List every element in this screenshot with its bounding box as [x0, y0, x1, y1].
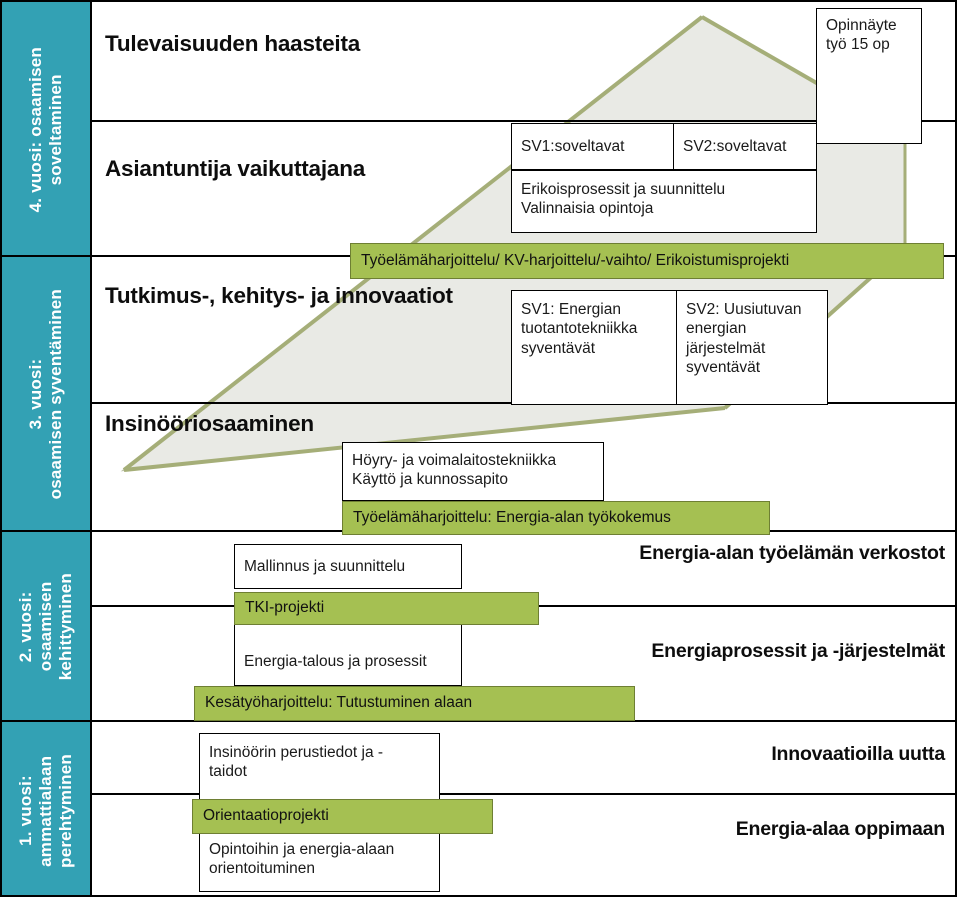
sidebar-item-year3[interactable]: 3. vuosi: osaamisen syventäminen — [2, 257, 90, 532]
green-bar-internship-year3[interactable]: Työelämäharjoittelu: Energia-alan työkok… — [342, 501, 770, 535]
course-box-text: SV1: Energian tuotantotekniikka syventäv… — [521, 300, 670, 358]
course-box-orientation-studies[interactable]: Opintoihin ja energia-alaan orientoitumi… — [199, 831, 440, 892]
course-box-text: SV1:soveltavat — [521, 137, 667, 156]
stage-heading-engineering: Insinööriosaaminen — [105, 411, 314, 437]
course-box-thesis[interactable]: Opinnäyte työ 15 op — [816, 8, 922, 144]
course-box-text: SV2: Uusiutuvan energian järjestelmät sy… — [686, 300, 821, 378]
course-box-text: Insinöörin perustiedot ja - taidot — [209, 743, 433, 782]
course-box-text: Erikoisprosessit ja suunnittelu Valinnai… — [521, 180, 810, 219]
green-bar-orientation-project[interactable]: Orientaatioprojekti — [192, 799, 493, 834]
theme-heading-learning: Energia-alaa oppimaan — [736, 818, 945, 841]
green-bar-text: TKI-projekti — [235, 599, 324, 618]
course-box-text: Mallinnus ja suunnittelu — [244, 557, 455, 576]
theme-heading-innovation: Innovaatioilla uutta — [771, 743, 945, 766]
stage-heading-future: Tulevaisuuden haasteita — [105, 31, 360, 57]
course-box-sv2-applied[interactable]: SV2:soveltavat — [673, 123, 817, 170]
stage-heading-expert: Asiantuntija vaikuttajana — [105, 156, 365, 182]
sidebar-item-label: 1. vuosi: ammattialaan perehtyminen — [16, 754, 76, 868]
course-box-special-processes[interactable]: Erikoisprosessit ja suunnittelu Valinnai… — [511, 170, 817, 233]
sidebar-item-label: 4. vuosi: osaamisen soveltaminen — [26, 47, 66, 212]
sidebar-item-year4[interactable]: 4. vuosi: osaamisen soveltaminen — [2, 2, 90, 257]
sidebar-item-label: 2. vuosi: osaamisen kehittyminen — [16, 573, 76, 680]
green-bar-text: Työelämäharjoittelu: Energia-alan työkok… — [343, 509, 671, 528]
course-box-text: SV2:soveltavat — [683, 137, 810, 156]
course-box-text: Opintoihin ja energia-alaan orientoitumi… — [209, 840, 433, 879]
course-box-sv1-applied[interactable]: SV1:soveltavat — [511, 123, 674, 170]
green-bar-text: Orientaatioprojekti — [193, 807, 329, 826]
course-box-text: Opinnäyte työ 15 op — [826, 16, 915, 55]
green-bar-internship-year4[interactable]: Työelämäharjoittelu/ KV-harjoittelu/-vai… — [350, 243, 944, 279]
year-sidebar: 4. vuosi: osaamisen soveltaminen 3. vuos… — [2, 2, 92, 897]
sidebar-item-year2[interactable]: 2. vuosi: osaamisen kehittyminen — [2, 532, 90, 722]
course-box-sv1-deep[interactable]: SV1: Energian tuotantotekniikka syventäv… — [511, 290, 677, 405]
green-bar-text: Työelämäharjoittelu/ KV-harjoittelu/-vai… — [351, 252, 789, 271]
course-box-sv2-deep[interactable]: SV2: Uusiutuvan energian järjestelmät sy… — [676, 290, 828, 405]
course-box-energy-economy[interactable]: Energia-talous ja prosessit — [234, 624, 462, 686]
theme-heading-networks: Energia-alan työelämän verkostot — [639, 542, 945, 565]
course-box-steam-power[interactable]: Höyry- ja voimalaitostekniikka Käyttö ja… — [342, 442, 604, 501]
course-box-engineer-basics[interactable]: Insinöörin perustiedot ja - taidot — [199, 733, 440, 800]
stage-heading-rdi: Tutkimus-, kehitys- ja innovaatiot — [105, 283, 453, 309]
course-box-modelling[interactable]: Mallinnus ja suunnittelu — [234, 544, 462, 589]
curriculum-diagram: 4. vuosi: osaamisen soveltaminen 3. vuos… — [0, 0, 957, 897]
course-box-text: Höyry- ja voimalaitostekniikka Käyttö ja… — [352, 451, 597, 490]
sidebar-item-year1[interactable]: 1. vuosi: ammattialaan perehtyminen — [2, 722, 90, 897]
green-bar-summer-internship[interactable]: Kesätyöharjoittelu: Tutustuminen alaan — [194, 686, 635, 721]
green-bar-tki-project[interactable]: TKI-projekti — [234, 592, 539, 625]
green-bar-text: Kesätyöharjoittelu: Tutustuminen alaan — [195, 694, 472, 713]
sidebar-item-label: 3. vuosi: osaamisen syventäminen — [26, 289, 66, 499]
theme-heading-processes: Energiaprosessit ja -järjestelmät — [651, 640, 945, 663]
course-box-text: Energia-talous ja prosessit — [244, 652, 455, 671]
